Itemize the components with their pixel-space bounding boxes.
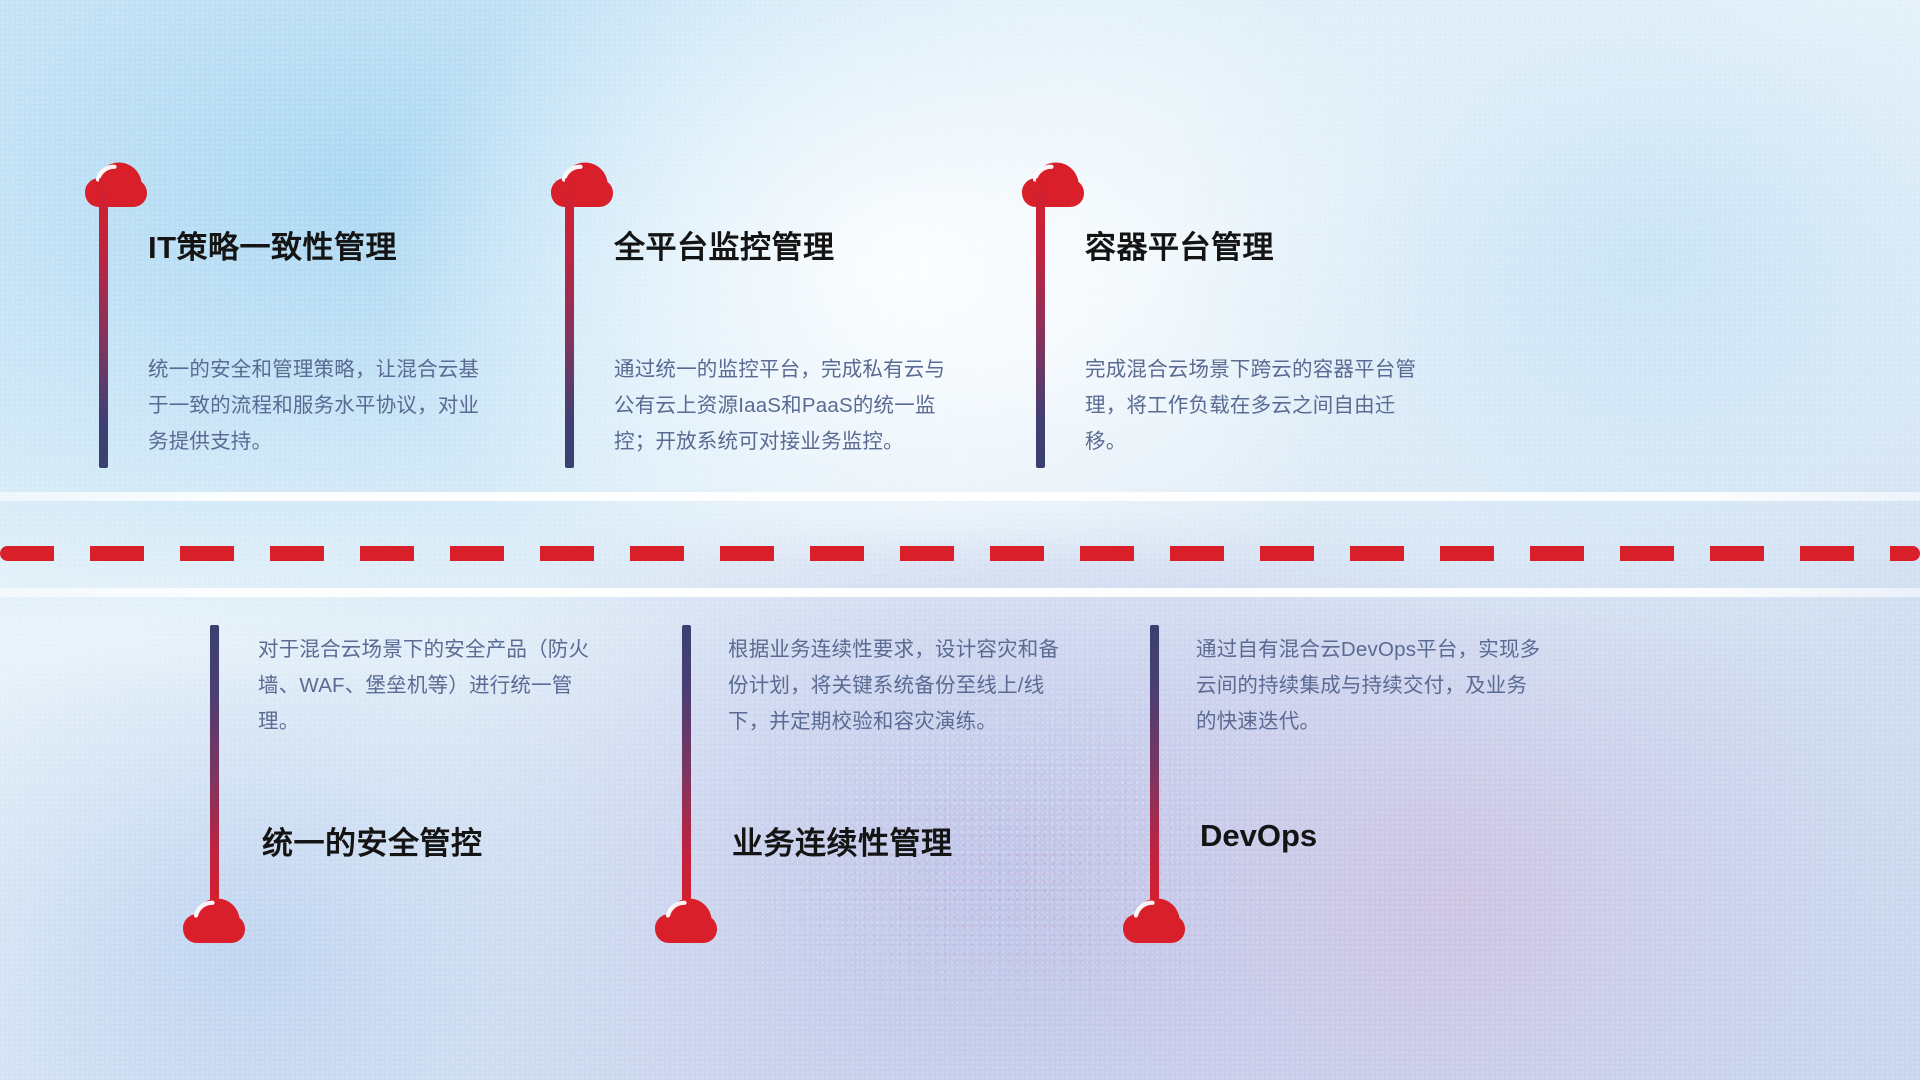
divider-rule-bottom [0, 588, 1920, 597]
divider-dashed-line [0, 546, 1920, 561]
divider-rule-top [0, 492, 1920, 501]
feature-heading: 统一的安全管控 [262, 818, 483, 863]
feature-description: 通过自有混合云DevOps平台，实现多云间的持续集成与持续交付，及业务的快速迭代… [1196, 632, 1546, 740]
cloud-icon [551, 162, 613, 208]
cloud-icon [1123, 898, 1185, 944]
feature-description: 对于混合云场景下的安全产品（防火墙、WAF、堡垒机等）进行统一管理。 [258, 632, 608, 740]
connector-stem [99, 178, 108, 468]
feature-heading: IT策略一致性管理 [148, 222, 397, 267]
feature-description: 根据业务连续性要求，设计容灾和备份计划，将关键系统备份至线上/线下，并定期校验和… [728, 632, 1078, 740]
feature-heading: DevOps [1200, 818, 1317, 854]
connector-stem [1036, 178, 1045, 468]
connector-stem [210, 625, 219, 915]
feature-heading: 业务连续性管理 [732, 818, 953, 863]
feature-description: 统一的安全和管理策略，让混合云基于一致的流程和服务水平协议，对业务提供支持。 [148, 352, 498, 460]
cloud-icon [183, 898, 245, 944]
cloud-icon [655, 898, 717, 944]
feature-heading: 全平台监控管理 [614, 222, 835, 267]
infographic-canvas: IT策略一致性管理 统一的安全和管理策略，让混合云基于一致的流程和服务水平协议，… [0, 0, 1920, 1080]
feature-heading: 容器平台管理 [1085, 222, 1274, 267]
connector-stem [682, 625, 691, 915]
cloud-icon [1022, 162, 1084, 208]
connector-stem [565, 178, 574, 468]
connector-stem [1150, 625, 1159, 915]
cloud-icon [85, 162, 147, 208]
feature-description: 完成混合云场景下跨云的容器平台管理，将工作负载在多云之间自由迁移。 [1085, 352, 1435, 460]
feature-description: 通过统一的监控平台，完成私有云与公有云上资源IaaS和PaaS的统一监控；开放系… [614, 352, 964, 460]
